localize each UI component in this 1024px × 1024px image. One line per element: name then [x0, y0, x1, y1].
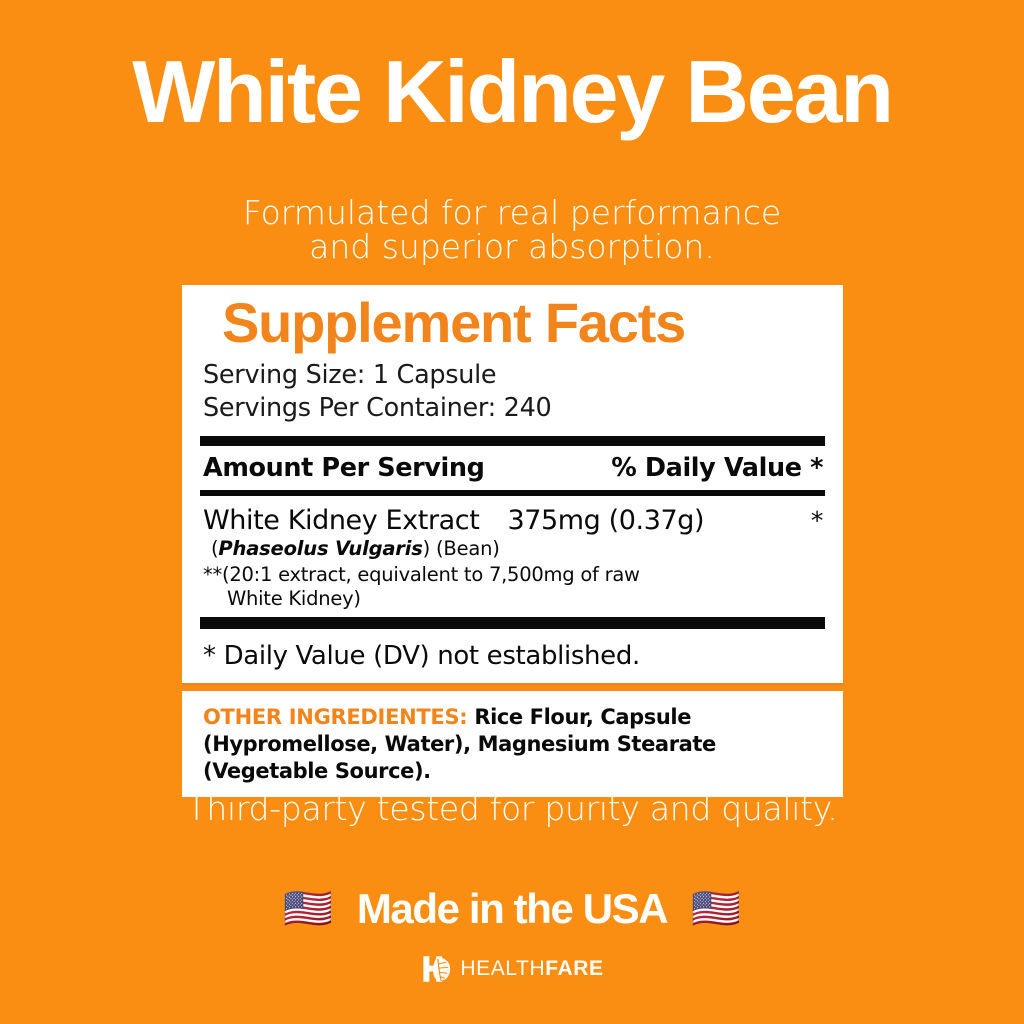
page-title: White Kidney Bean — [0, 48, 1024, 136]
tagline-line-2: and superior absorption. — [0, 230, 1024, 264]
extract-note-line-2: White Kidney) — [203, 587, 823, 611]
brand-logo: HEALTHFARE — [0, 952, 1024, 986]
column-header-row: Amount Per Serving % Daily Value * — [200, 446, 825, 490]
us-flag-icon-left: 🇺🇸 — [283, 889, 333, 929]
supplement-facts-title: Supplement Facts — [222, 293, 825, 353]
other-ingredients-label: OTHER INGREDIENTES: — [203, 705, 467, 729]
ingredient-amount: 375mg (0.37g) — [507, 506, 810, 536]
other-ingredients-section: OTHER INGREDIENTES: Rice Flour, Capsule … — [182, 691, 843, 797]
third-party-tested-text: Third-party tested for purity and qualit… — [0, 789, 1024, 828]
made-in-usa-row: 🇺🇸 Made in the USA 🇺🇸 — [0, 885, 1024, 933]
supplement-facts-panel: Supplement Facts Serving Size: 1 Capsule… — [182, 285, 843, 797]
brand-name: HEALTHFARE — [460, 957, 603, 981]
supplement-facts-body: Supplement Facts Serving Size: 1 Capsule… — [182, 285, 843, 683]
made-in-usa-label: Made in the USA — [357, 885, 667, 933]
table-row: White Kidney Extract 375mg (0.37g) * (Ph… — [200, 496, 825, 618]
other-ingredients-text: OTHER INGREDIENTES: Rice Flour, Capsule … — [200, 695, 825, 797]
serving-size-line: Serving Size: 1 Capsule — [203, 359, 825, 392]
amount-per-serving-header: Amount Per Serving — [203, 453, 484, 483]
rule-thick-bottom — [200, 617, 825, 629]
latin-binomial: Phaseolus Vulgaris — [218, 537, 422, 560]
extract-note-line-1: **(20:1 extract, equivalent to 7,500mg o… — [203, 563, 640, 586]
daily-value-footnote: * Daily Value (DV) not established. — [200, 629, 825, 683]
us-flag-icon-right: 🇺🇸 — [691, 889, 741, 929]
healthfare-leaf-h-icon — [420, 952, 454, 986]
tagline-line-1: Formulated for real performance — [0, 196, 1024, 230]
latin-close-paren: ) (Bean) — [423, 537, 500, 560]
rule-thick-top — [200, 436, 825, 446]
brand-name-health: HEALTH — [460, 957, 545, 980]
ingredient-extract-note: **(20:1 extract, equivalent to 7,500mg o… — [203, 563, 823, 612]
servings-per-container-line: Servings Per Container: 240 — [203, 392, 825, 425]
ingredient-latin-line: (Phaseolus Vulgaris) (Bean) — [203, 537, 823, 561]
ingredient-daily-value: * — [811, 507, 823, 535]
ingredient-name: White Kidney Extract — [203, 506, 479, 536]
ingredient-primary-line: White Kidney Extract 375mg (0.37g) * — [203, 506, 823, 536]
supplement-label-page: White Kidney Bean Formulated for real pe… — [0, 0, 1024, 1024]
daily-value-header: % Daily Value * — [611, 453, 823, 483]
brand-name-fare: FARE — [545, 957, 603, 980]
tagline: Formulated for real performance and supe… — [0, 196, 1024, 263]
